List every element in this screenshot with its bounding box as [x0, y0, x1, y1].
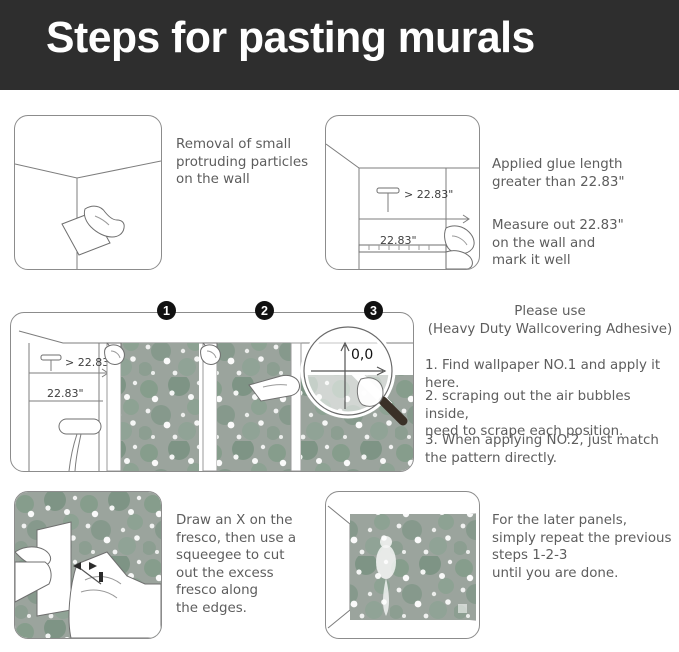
- illustration-apply-panels: > 22.83" 22.83": [10, 312, 414, 472]
- page-title: Steps for pasting murals: [46, 13, 535, 63]
- step-badge-2: 2: [255, 301, 274, 320]
- caption-glue-length: Applied glue length greater than 22.83": [492, 156, 672, 191]
- mural-panel-2: [217, 343, 291, 471]
- roller-dim-icon: [41, 355, 61, 371]
- caption-adhesive: Please use(Heavy Duty Wallcovering Adhes…: [425, 303, 675, 338]
- apply-dim-tape: 22.83": [47, 387, 84, 400]
- illustration-finished-room: [325, 491, 480, 639]
- magnifier-icon: 0,0: [304, 327, 403, 421]
- caption-repeat: For the later panels, simply repeat the …: [492, 512, 679, 582]
- room-mural: [350, 514, 476, 620]
- adhesive-line-1: Please use: [514, 304, 585, 319]
- paint-roller-icon: [377, 188, 399, 212]
- illustration-scrape-wall: [14, 115, 162, 270]
- caption-instruction-1: 1. Find wallpaper NO.1 and apply it here…: [425, 357, 677, 392]
- dim-roller-label: > 22.83": [404, 188, 453, 201]
- adhesive-line-2: (Heavy Duty Wallcovering Adhesive): [428, 322, 673, 337]
- caption-measure-mark: Measure out 22.83" on the wall and mark …: [492, 217, 672, 270]
- illustration-measure-wall: > 22.83" 22.83": [325, 115, 480, 270]
- header-banner: Steps for pasting murals: [0, 0, 679, 90]
- step-badge-3: 3: [364, 301, 383, 320]
- finished-room-drawing: [326, 492, 479, 638]
- measure-wall-drawing: > 22.83" 22.83": [326, 116, 479, 269]
- caption-cut: Draw an X on the fresco, then use a sque…: [176, 512, 336, 617]
- illustration-cut-excess: [14, 491, 162, 639]
- apply-panels-drawing: > 22.83" 22.83": [11, 313, 413, 471]
- hand-with-scraper-icon: [62, 206, 124, 255]
- origin-label: 0,0: [351, 347, 373, 363]
- caption-scrape: Removal of small protruding particles on…: [176, 136, 336, 189]
- hand-holding-tape-icon: [445, 226, 475, 269]
- step-badge-1: 1: [157, 301, 176, 320]
- tape-measure-icon: [359, 245, 446, 252]
- hand-peel-1-icon: [105, 345, 125, 365]
- caption-instruction-3: 3. When applying NO.2, just match the pa…: [425, 432, 677, 467]
- scrape-wall-drawing: [15, 116, 161, 269]
- hand-peel-2-icon: [201, 345, 221, 365]
- paint-roller-tool-icon: [59, 419, 101, 471]
- cut-excess-drawing: [15, 492, 161, 638]
- mural-panel-1: [121, 343, 199, 471]
